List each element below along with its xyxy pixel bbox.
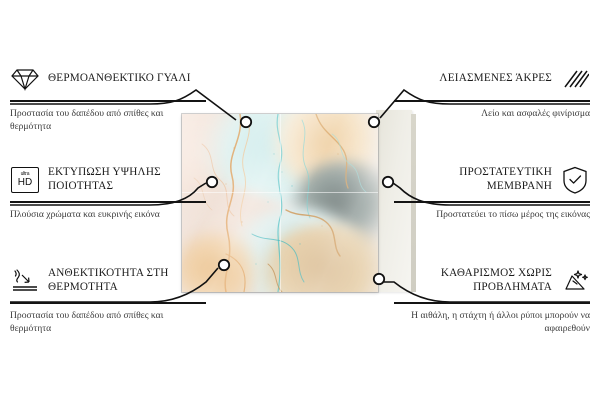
heat-resistance-icon — [10, 266, 40, 296]
feature-description: Προστασία του δαπέδου από σπίθες και θερ… — [10, 107, 206, 133]
feature-description: Η αιθάλη, η στάχτη ή άλλοι ρύποι μπορούν… — [394, 309, 590, 335]
divider — [394, 201, 590, 203]
divider — [10, 302, 206, 304]
easy-clean-icon — [560, 266, 590, 296]
feature-title: ΛΕΙΑΣΜΕΝΕΣ ΆΚΡΕΣ — [439, 72, 552, 86]
feature-high-quality-print: ultra HD ΕΚΤΥΠΩΣΗ ΥΨΗΛΗΣ ΠΟΙΟΤΗΤΑΣ Πλούσ… — [10, 163, 206, 221]
polished-edges-icon — [560, 64, 590, 94]
divider — [10, 201, 206, 203]
infographic-canvas: ΘΕΡΜΟΑΝΘΕΚΤΙΚΟ ΓΥΑΛΙ Προστασία του δαπέδ… — [0, 0, 600, 400]
feature-title: ΚΑΘΑΡΙΣΜΟΣ ΧΩΡΙΣ ΠΡΟΒΛΗΜΑΤΑ — [394, 267, 552, 294]
feature-description: Πλούσια χρώματα και ευκρινής εικόνα — [10, 208, 206, 221]
glass-reflection — [280, 114, 281, 292]
ultra-hd-badge-bottom: HD — [18, 178, 32, 188]
ultra-hd-icon: ultra HD — [10, 165, 40, 195]
glass-splashback — [182, 114, 378, 292]
feature-heat-resistance: ΑΝΘΕΚΤΙΚΟΤΗΤΑ ΣΤΗ ΘΕΡΜΟΤΗΤΑ Προστασία το… — [10, 264, 206, 335]
diamond-icon — [10, 64, 40, 94]
divider — [10, 100, 206, 102]
shield-check-icon — [560, 165, 590, 195]
divider — [394, 302, 590, 304]
feature-description: Προστατεύει το πίσω μέρος της εικόνας — [394, 208, 590, 221]
feature-title: ΑΝΘΕΚΤΙΚΟΤΗΤΑ ΣΤΗ ΘΕΡΜΟΤΗΤΑ — [48, 267, 206, 294]
feature-description: Λείο και ασφαλές φινίρισμα — [394, 107, 590, 120]
feature-title: ΠΡΟΣΤΑΤΕΥΤΙΚΗ ΜΕΜΒΡΑΝΗ — [394, 166, 552, 193]
feature-easy-cleaning: ΚΑΘΑΡΙΣΜΟΣ ΧΩΡΙΣ ΠΡΟΒΛΗΜΑΤΑ Η αιθάλη, η … — [394, 264, 590, 335]
product-image — [180, 108, 412, 298]
feature-polished-edges: ΛΕΙΑΣΜΕΝΕΣ ΆΚΡΕΣ Λείο και ασφαλές φινίρι… — [394, 62, 590, 120]
feature-description: Προστασία του δαπέδου από σπίθες και θερ… — [10, 309, 206, 335]
feature-heat-resistant-glass: ΘΕΡΜΟΑΝΘΕΚΤΙΚΟ ΓΥΑΛΙ Προστασία του δαπέδ… — [10, 62, 206, 133]
feature-title: ΘΕΡΜΟΑΝΘΕΚΤΙΚΟ ΓΥΑΛΙ — [48, 72, 191, 86]
feature-title: ΕΚΤΥΠΩΣΗ ΥΨΗΛΗΣ ΠΟΙΟΤΗΤΑΣ — [48, 166, 206, 193]
divider — [394, 100, 590, 102]
feature-protective-film: ΠΡΟΣΤΑΤΕΥΤΙΚΗ ΜΕΜΒΡΑΝΗ Προστατεύει το πί… — [394, 163, 590, 221]
